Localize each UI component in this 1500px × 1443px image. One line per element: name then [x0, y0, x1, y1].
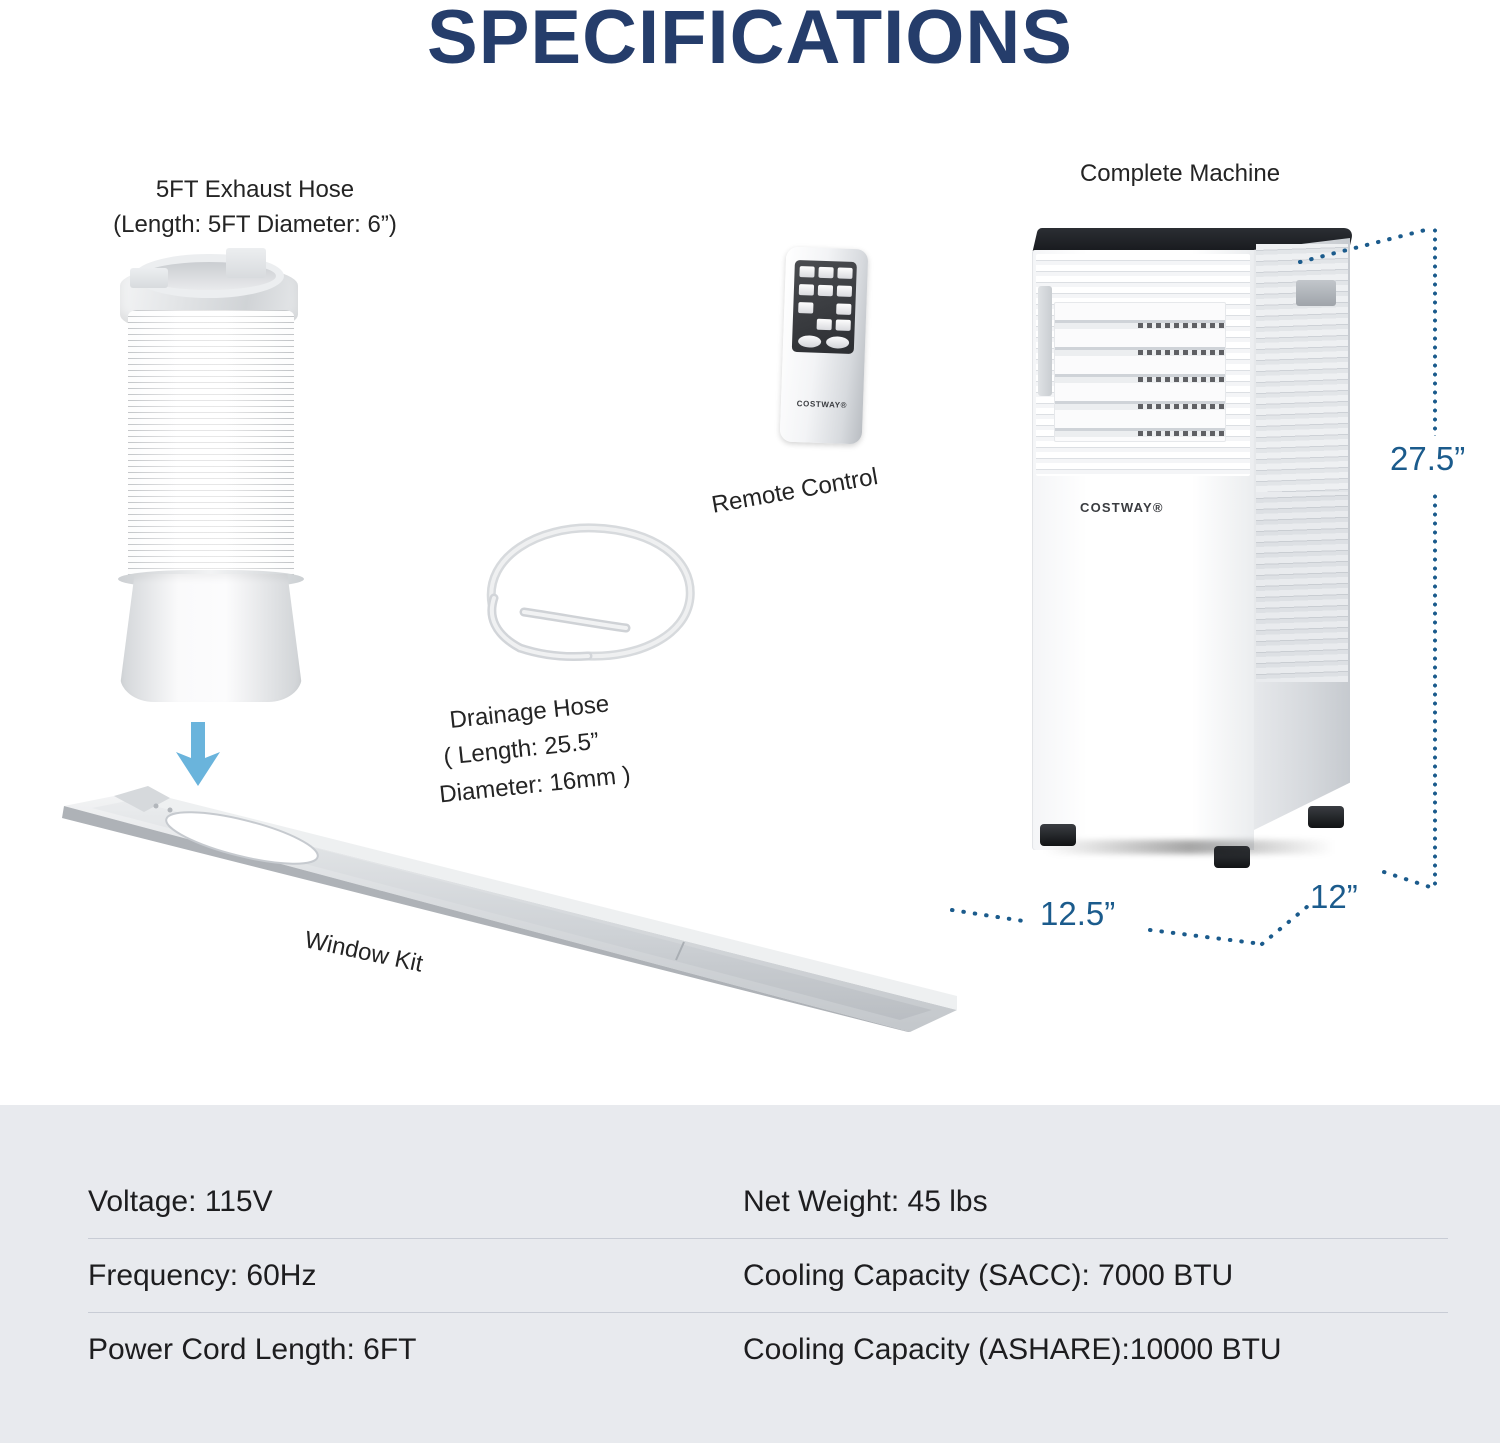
ac-vent-detail — [1138, 306, 1224, 438]
remote-timer-button — [798, 335, 821, 348]
remote-button — [817, 319, 832, 331]
exhaust-hose-label: 5FT Exhaust Hose (Length: 5FT Diameter: … — [60, 172, 450, 242]
ac-shadow — [1044, 840, 1334, 854]
remote-power-button — [826, 336, 849, 349]
width-dimension-label: 12.5” — [1040, 895, 1115, 933]
height-dimension-line-lower — [1433, 492, 1437, 890]
exhaust-hose-tab — [226, 248, 266, 278]
page-title: SPECIFICATIONS — [0, 0, 1500, 81]
remote-button — [799, 266, 814, 278]
window-kit-image — [52, 782, 962, 1032]
remote-button — [799, 284, 814, 296]
remote-button — [836, 319, 851, 331]
remote-brand-logo: COSTWAY® — [781, 399, 863, 411]
drainage-hose-image — [462, 512, 712, 682]
exhaust-hose-corrugated-body — [128, 310, 294, 582]
ac-carry-handle — [1296, 280, 1336, 306]
remote-button — [818, 267, 833, 279]
spec-row: Cooling Capacity (ASHARE):10000 BTU — [743, 1313, 1448, 1387]
spec-row: Power Cord Length: 6FT — [88, 1313, 743, 1387]
remote-button — [837, 285, 852, 297]
remote-button-panel — [792, 260, 857, 354]
depth-dimension-label: 12” — [1310, 878, 1358, 916]
spec-row: Cooling Capacity (SACC): 7000 BTU — [743, 1239, 1448, 1313]
down-arrow-icon — [168, 722, 228, 788]
remote-button — [836, 303, 851, 315]
air-conditioner-image: COSTWAY® — [1018, 228, 1378, 868]
specifications-infographic: SPECIFICATIONS 5FT Exhaust Hose (Length:… — [0, 0, 1500, 1443]
exhaust-hose-adapter — [120, 574, 302, 702]
spec-row: Frequency: 60Hz — [88, 1239, 743, 1313]
specifications-panel: Voltage: 115V Net Weight: 45 lbs Frequen… — [0, 1105, 1500, 1443]
exhaust-hose-label-line2: (Length: 5FT Diameter: 6”) — [60, 207, 450, 242]
ac-brand-logo: COSTWAY® — [1080, 500, 1164, 515]
exhaust-hose-label-line1: 5FT Exhaust Hose — [60, 172, 450, 207]
specifications-table: Voltage: 115V Net Weight: 45 lbs Frequen… — [88, 1165, 1448, 1387]
complete-machine-label: Complete Machine — [1030, 156, 1330, 191]
ac-caster-wheel — [1308, 806, 1344, 828]
ac-side-grille-lower — [1256, 492, 1348, 682]
exhaust-hose-tab — [130, 268, 168, 288]
remote-control-image: COSTWAY® — [780, 247, 869, 445]
spec-row: Voltage: 115V — [88, 1165, 743, 1239]
drainage-hose-label: Drainage Hose ( Length: 25.5” Diameter: … — [430, 685, 632, 814]
ac-louver-hinge — [1038, 286, 1052, 396]
spec-row: Net Weight: 45 lbs — [743, 1165, 1448, 1239]
remote-control-label: Remote Control — [709, 459, 881, 523]
remote-button — [837, 267, 852, 279]
remote-button — [798, 302, 813, 314]
height-dimension-label: 27.5” — [1390, 440, 1465, 478]
exhaust-hose-image — [108, 248, 313, 718]
height-dimension-line-upper — [1433, 226, 1437, 436]
remote-button — [818, 285, 833, 297]
